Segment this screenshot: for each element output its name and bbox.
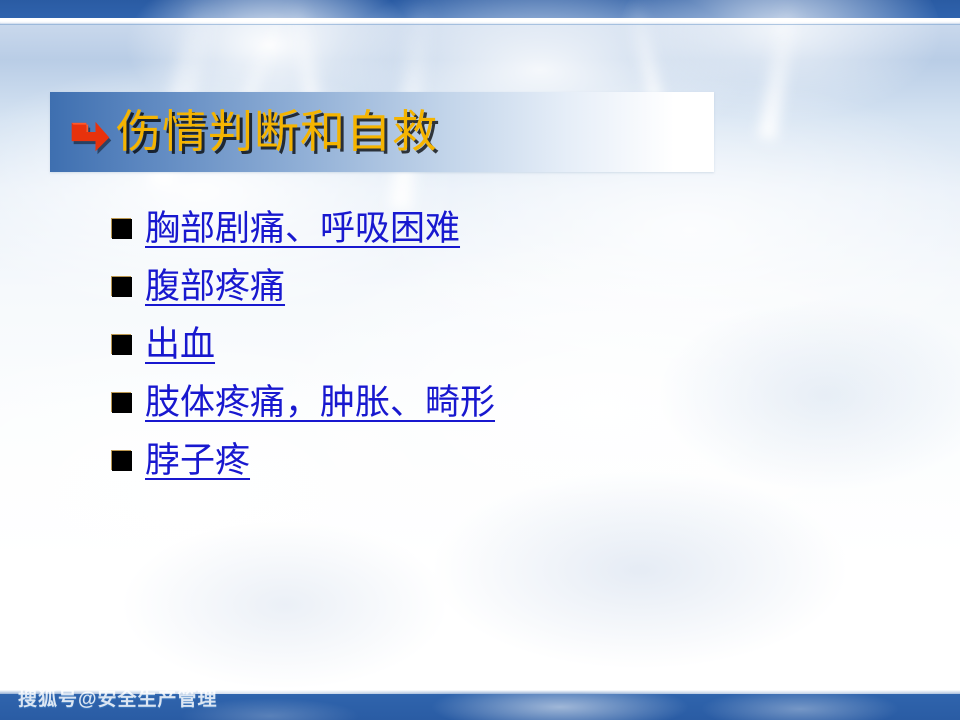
square-bullet-icon — [112, 335, 132, 355]
list-item-label[interactable]: 腹部疼痛 — [145, 269, 285, 306]
bullet-list: 胸部剧痛、呼吸困难 腹部疼痛 出血 肢体疼痛，肿胀、畸形 脖子疼 — [112, 200, 902, 490]
cloud-shape — [700, 694, 900, 720]
square-bullet-icon — [112, 277, 132, 297]
page-title: 伤情判断和自救 — [116, 110, 438, 155]
list-item-label[interactable]: 出血 — [145, 327, 215, 364]
square-bullet-icon — [112, 451, 132, 471]
slide-canvas: 伤情判断和自救 胸部剧痛、呼吸困难 腹部疼痛 出血 肢体疼痛，肿胀、畸形 脖子疼… — [0, 0, 960, 720]
list-item-label[interactable]: 肢体疼痛，肿胀、畸形 — [145, 385, 495, 422]
list-item[interactable]: 胸部剧痛、呼吸困难 — [112, 200, 902, 258]
list-item[interactable]: 脖子疼 — [112, 432, 902, 490]
list-item[interactable]: 腹部疼痛 — [112, 258, 902, 316]
down-right-arrow-icon — [68, 110, 112, 154]
list-item[interactable]: 肢体疼痛，肿胀、畸形 — [112, 374, 902, 432]
cloud-shape — [430, 694, 690, 720]
square-bullet-icon — [112, 219, 132, 239]
watermark-label: 搜狐号@安全生产管理 — [18, 684, 218, 711]
top-divider-line-secondary — [0, 24, 960, 25]
square-bullet-icon — [112, 393, 132, 413]
top-divider-line — [0, 18, 960, 21]
list-item[interactable]: 出血 — [112, 316, 902, 374]
list-item-label[interactable]: 脖子疼 — [145, 443, 250, 480]
title-banner: 伤情判断和自救 — [50, 92, 714, 172]
list-item-label[interactable]: 胸部剧痛、呼吸困难 — [145, 211, 460, 248]
